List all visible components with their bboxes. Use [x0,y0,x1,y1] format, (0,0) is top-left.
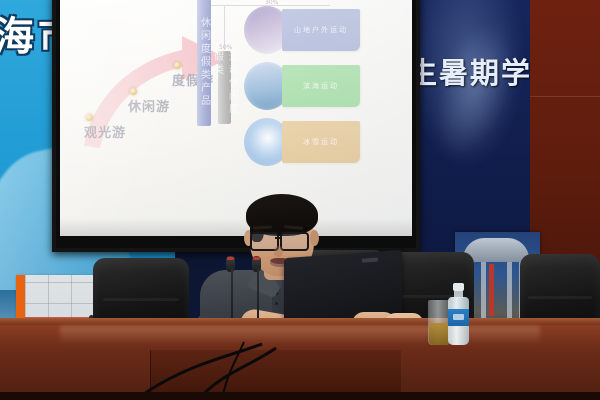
building-pillar [507,262,512,320]
floor-shadow [0,392,600,400]
eyeglasses-bridge [275,237,282,239]
bottle-neck [454,290,463,298]
screenshot-scene: 生暑期学校 海市 [0,0,600,400]
wall-seam [530,96,600,97]
presenter-nose [274,246,283,257]
building-red-banner [489,264,494,316]
desk-cables [0,330,600,400]
bottle-cap [453,283,464,291]
eyeglasses-lens-right [280,232,309,251]
desk-front-edge [0,318,600,325]
polo-button [275,302,278,305]
presenter-ear-right [310,230,319,246]
presenter-hair [246,194,318,236]
microphone-indicator-light [253,257,260,260]
building-pillar [481,262,486,320]
microphone-indicator-light [227,257,234,260]
laptop-logo [362,258,378,263]
bottle-label [448,309,469,326]
